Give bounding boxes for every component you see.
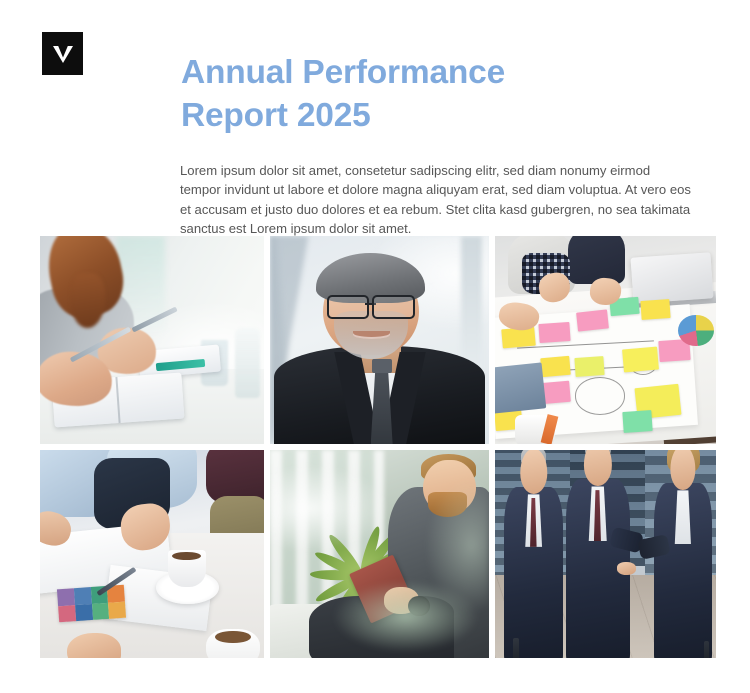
page-title-line-2: Report 2025	[181, 94, 701, 137]
gallery-photo-6[interactable]	[495, 450, 716, 658]
photo-3-scene	[495, 236, 716, 444]
w-chevron-logo-icon	[52, 44, 74, 64]
gallery-photo-2[interactable]	[270, 236, 489, 444]
photo-5-scene	[270, 450, 489, 658]
gallery-photo-3[interactable]	[495, 236, 716, 444]
page-title-line-1: Annual Performance	[181, 51, 701, 94]
image-gallery	[40, 236, 710, 658]
logo-mark[interactable]	[42, 32, 83, 75]
page-title: Annual Performance Report 2025	[181, 51, 701, 137]
photo-1-scene	[40, 236, 264, 444]
page-header: Annual Performance Report 2025	[0, 0, 750, 130]
gallery-photo-4[interactable]	[40, 450, 264, 658]
intro-paragraph: Lorem ipsum dolor sit amet, consetetur s…	[180, 161, 692, 238]
gallery-photo-5[interactable]	[270, 450, 489, 658]
gallery-photo-1[interactable]	[40, 236, 264, 444]
photo-4-scene	[40, 450, 264, 658]
photo-6-scene	[495, 450, 716, 658]
photo-2-scene	[270, 236, 489, 444]
